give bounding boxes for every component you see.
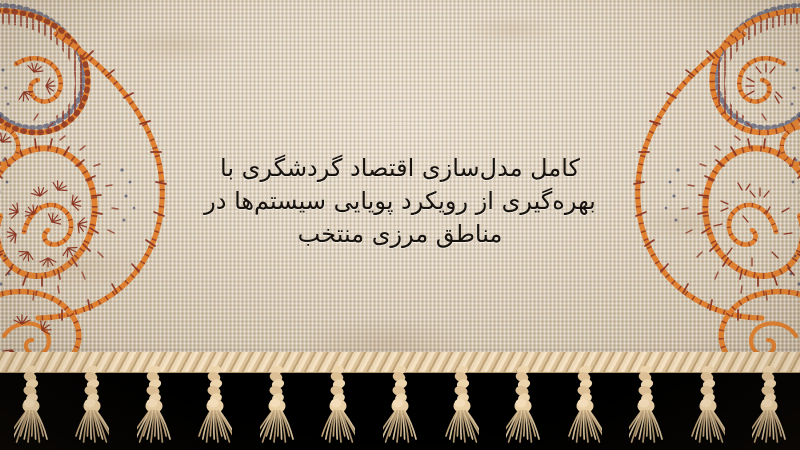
tassel [321,366,355,444]
title-line-1: کامل مدل‌سازی اقتصاد گردشگری با [140,152,660,185]
tassel [568,366,602,444]
tassel [383,366,417,444]
tassel [137,366,171,444]
tassel [260,366,294,444]
tassel [75,366,109,444]
tassel [445,366,479,444]
tassel [691,366,725,444]
tassel [198,366,232,444]
tassel [14,366,48,444]
tassel [506,366,540,444]
slide-canvas: کامل مدل‌سازی اقتصاد گردشگری با بهره‌گیر… [0,0,800,450]
title-line-2: بهره‌گیری از رویکرد پویایی سیستم‌ها در [140,185,660,218]
tassel-fringe [0,352,800,450]
title-line-3: مناطق مرزی منتخب [140,218,660,251]
slide-title: کامل مدل‌سازی اقتصاد گردشگری با بهره‌گیر… [140,152,660,251]
tassel [752,366,786,444]
tassel [629,366,663,444]
